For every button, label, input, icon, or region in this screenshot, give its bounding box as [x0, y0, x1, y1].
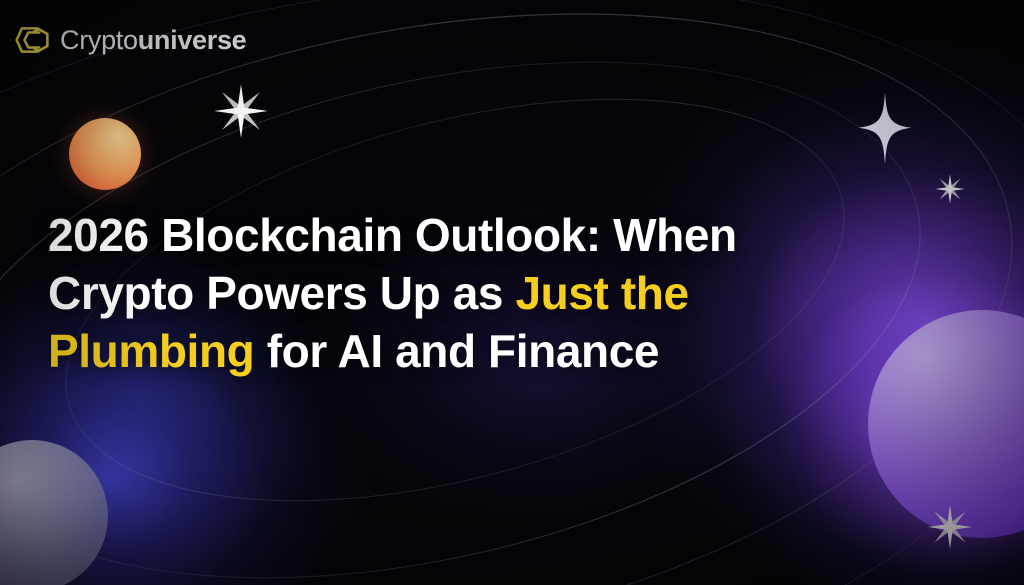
headline-line-2-highlight: Just the: [515, 267, 688, 319]
cryptouniverse-hex-c-logo-icon: [14, 22, 50, 58]
headline-line-1-plain: 2026 Blockchain Outlook: When: [48, 209, 737, 261]
brand-logo-text: Cryptouniverse: [60, 27, 246, 54]
brand-name-bold: universe: [138, 25, 247, 55]
headline-line-1: 2026 Blockchain Outlook: When: [48, 206, 878, 264]
headline-line-3: Plumbing for AI and Finance: [48, 322, 878, 380]
headline-line-2: Crypto Powers Up as Just the: [48, 264, 878, 322]
headline-line-3-plain: for AI and Finance: [254, 325, 659, 377]
headline-line-3-highlight: Plumbing: [48, 325, 254, 377]
star-sparkle-top-left: [213, 83, 269, 139]
page-title: 2026 Blockchain Outlook: When Crypto Pow…: [48, 206, 878, 380]
hero-banner: Cryptouniverse 2026 Blockchain Outlook: …: [0, 0, 1024, 585]
headline-line-2-plain: Crypto Powers Up as: [48, 267, 515, 319]
star-sparkle-small-right: [934, 173, 966, 205]
brand-logo[interactable]: Cryptouniverse: [14, 22, 246, 58]
star-sparkle-bottom-right: [927, 504, 973, 550]
star-sparkle-top-right: [858, 92, 912, 164]
brand-name-light: Crypto: [60, 25, 138, 55]
orange-sphere: [69, 118, 141, 190]
